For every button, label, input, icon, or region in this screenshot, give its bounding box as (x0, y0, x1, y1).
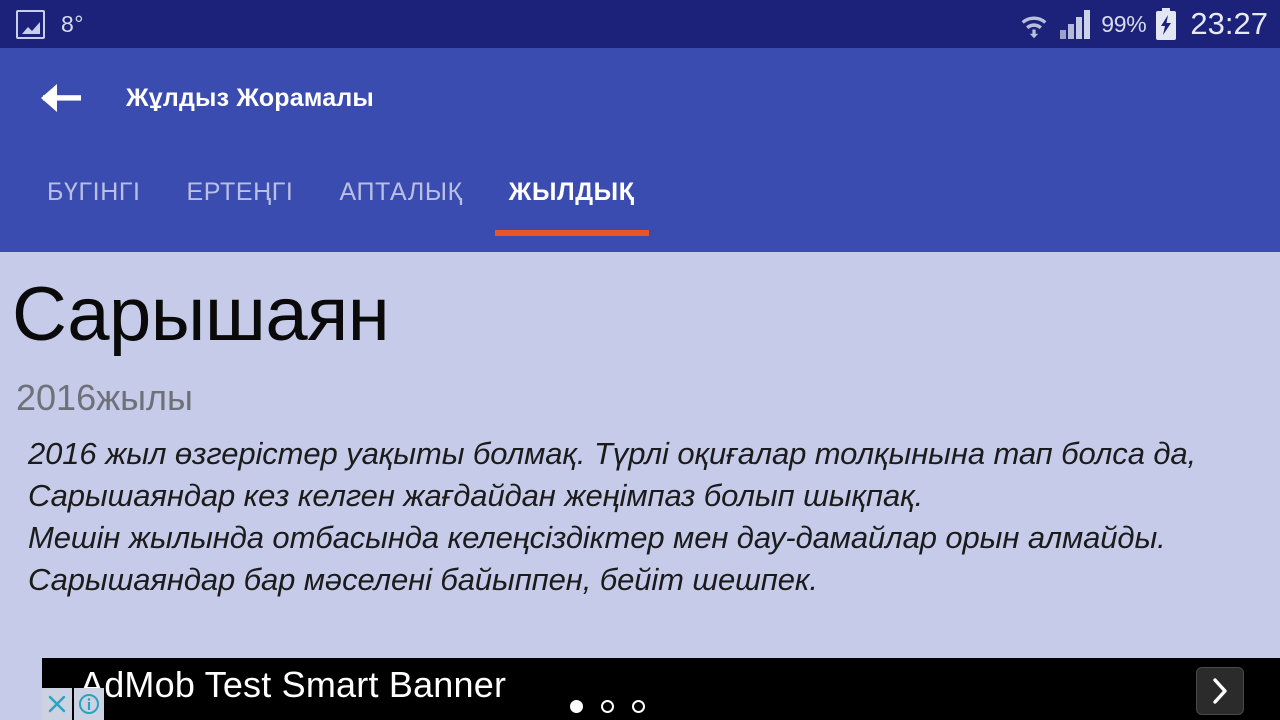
admob-banner[interactable]: AdMob Test Smart Banner (42, 658, 1280, 720)
ad-carousel-dots[interactable] (570, 700, 645, 713)
tab-zhyldyq[interactable]: ЖЫЛДЫҚ (486, 148, 658, 236)
clock-label: 23:27 (1190, 6, 1268, 42)
tab-label: ЕРТЕҢГІ (187, 178, 294, 207)
close-x-icon[interactable] (42, 688, 72, 720)
status-bar-right: 99% 23:27 (1017, 6, 1268, 42)
tab-indicator (173, 230, 308, 236)
tab-aptalyq[interactable]: АПТАЛЫҚ (316, 148, 485, 236)
chevron-right-icon[interactable] (1196, 667, 1244, 715)
cellular-signal-icon (1060, 9, 1092, 39)
app-bar-top: Жұлдыз Жорамалы (0, 48, 1280, 148)
ad-dot[interactable] (601, 700, 614, 713)
horoscope-paragraph: Мешін жылында отбасында келеңсіздіктер м… (28, 517, 1252, 601)
horoscope-content: Сарышаян 2016жылы 2016 жыл өзгерістер уа… (0, 252, 1280, 720)
year-subtitle: 2016жылы (16, 377, 1280, 419)
tab-ertengi[interactable]: ЕРТЕҢГІ (164, 148, 317, 236)
back-arrow-icon[interactable] (38, 75, 84, 121)
horoscope-text: 2016 жыл өзгерістер уақыты болмақ. Түрлі… (28, 433, 1252, 601)
temperature-label: 8° (61, 11, 84, 38)
battery-percent-label: 99% (1101, 11, 1146, 38)
tab-bar: БҮГІНГІ ЕРТЕҢГІ АПТАЛЫҚ ЖЫЛДЫҚ (0, 148, 1280, 252)
wifi-icon (1017, 7, 1051, 41)
photo-widget-icon (16, 10, 45, 39)
ad-banner-text: AdMob Test Smart Banner (80, 664, 506, 706)
tab-label: БҮГІНГІ (47, 178, 141, 207)
tab-indicator (33, 230, 155, 236)
status-bar: 8° 99% (0, 0, 1280, 48)
horoscope-paragraph: 2016 жыл өзгерістер уақыты болмақ. Түрлі… (28, 433, 1252, 517)
phone-screen: 8° 99% (0, 0, 1280, 720)
battery-charging-icon (1155, 8, 1177, 40)
tab-indicator-active (495, 230, 649, 236)
app-bar: Жұлдыз Жорамалы БҮГІНГІ ЕРТЕҢГІ АПТАЛЫҚ … (0, 48, 1280, 252)
status-bar-left: 8° (16, 10, 84, 39)
ad-dot[interactable] (570, 700, 583, 713)
tab-indicator (325, 230, 476, 236)
tab-label: ЖЫЛДЫҚ (509, 178, 635, 207)
ad-dot[interactable] (632, 700, 645, 713)
page-title: Жұлдыз Жорамалы (126, 84, 374, 113)
tab-label: АПТАЛЫҚ (339, 178, 462, 207)
info-circle-icon[interactable] (74, 688, 104, 720)
zodiac-sign-title: Сарышаян (12, 277, 1280, 353)
ad-control-group (42, 688, 104, 720)
tab-bugingi[interactable]: БҮГІНГІ (24, 148, 164, 236)
